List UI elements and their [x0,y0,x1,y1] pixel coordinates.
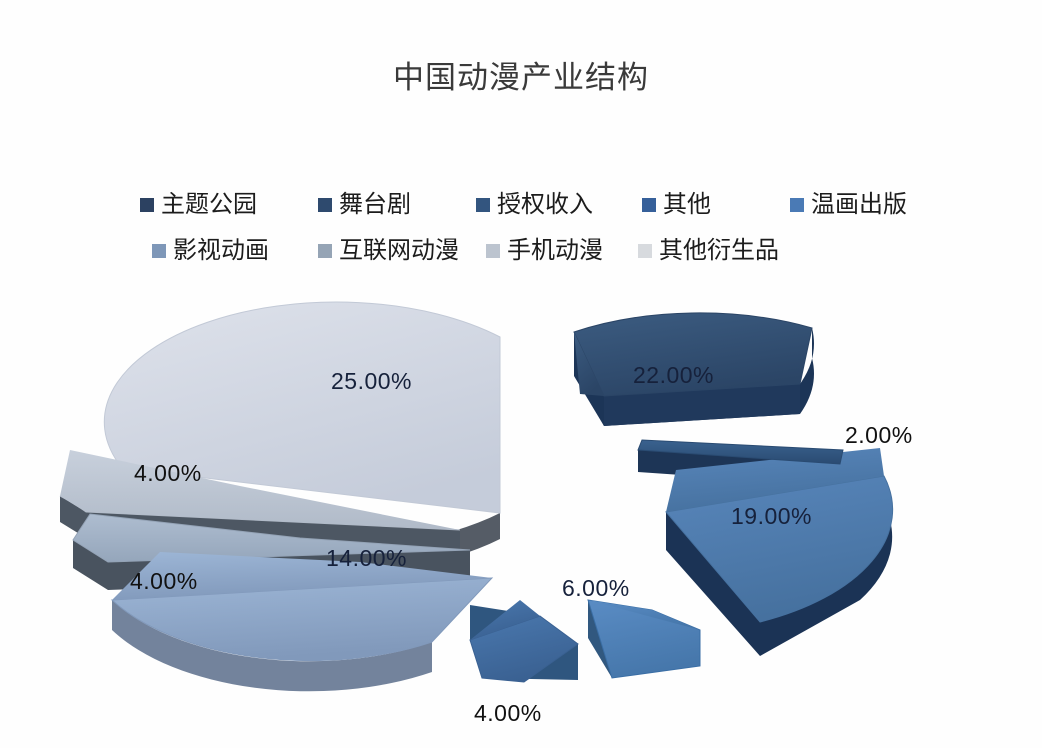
legend-item-theme-park[interactable]: 主题公园 [140,193,318,217]
pie-svg [0,300,1042,748]
slice-label-other-derivatives: 25.00% [331,368,412,395]
legend-item-licensing[interactable]: 授权收入 [476,193,642,217]
legend-item-stage-play[interactable]: 舞台剧 [318,193,476,217]
legend-label-film-animation: 影视动画 [173,239,269,263]
legend-swatch-other [642,198,656,212]
legend-row-2: 影视动画 互联网动漫 手机动漫 其他衍生品 [140,228,940,274]
slice-label-mobile-anime: 4.00% [134,460,202,487]
legend-label-licensing: 授权收入 [497,193,593,217]
legend-swatch-other-derivatives [638,244,652,258]
legend-item-other-derivatives[interactable]: 其他衍生品 [638,239,779,263]
legend-label-mobile-anime: 手机动漫 [507,239,603,263]
legend-label-other: 其他 [663,193,711,217]
legend-swatch-licensing [476,198,490,212]
pie-chart-figure: 中国动漫产业结构 主题公园 舞台剧 授权收入 其他 温画出版 [0,0,1042,748]
legend-label-comic-publishing: 温画出版 [811,193,907,217]
slice-label-theme-park: 22.00% [633,362,714,389]
chart-legend: 主题公园 舞台剧 授权收入 其他 温画出版 影视动画 [140,182,940,274]
legend-swatch-comic-publishing [790,198,804,212]
slice-label-film-animation: 14.00% [326,545,407,572]
legend-item-film-animation[interactable]: 影视动画 [152,239,318,263]
legend-item-comic-publishing[interactable]: 温画出版 [790,193,907,217]
slice-label-internet-anime: 4.00% [130,568,198,595]
legend-row-1: 主题公园 舞台剧 授权收入 其他 温画出版 [140,182,940,228]
legend-item-other[interactable]: 其他 [642,193,790,217]
slice-top-other[interactable] [588,600,700,678]
legend-item-internet-anime[interactable]: 互联网动漫 [318,239,486,263]
legend-swatch-stage-play [318,198,332,212]
legend-label-other-derivatives: 其他衍生品 [659,239,779,263]
slice-label-other: 6.00% [562,575,630,602]
legend-label-stage-play: 舞台剧 [339,193,411,217]
legend-item-mobile-anime[interactable]: 手机动漫 [486,239,638,263]
legend-swatch-theme-park [140,198,154,212]
legend-swatch-film-animation [152,244,166,258]
slice-label-licensing: 19.00% [731,503,812,530]
legend-label-internet-anime: 互联网动漫 [339,239,459,263]
legend-swatch-mobile-anime [486,244,500,258]
legend-swatch-internet-anime [318,244,332,258]
pie-plot-area: 22.00% 2.00% 19.00% 6.00% 4.00% 14.00% 4… [0,300,1042,748]
legend-label-theme-park: 主题公园 [161,193,257,217]
slice-label-comic-publishing: 4.00% [474,700,542,727]
chart-title: 中国动漫产业结构 [0,52,1042,97]
slice-label-stage-play: 2.00% [845,422,913,449]
